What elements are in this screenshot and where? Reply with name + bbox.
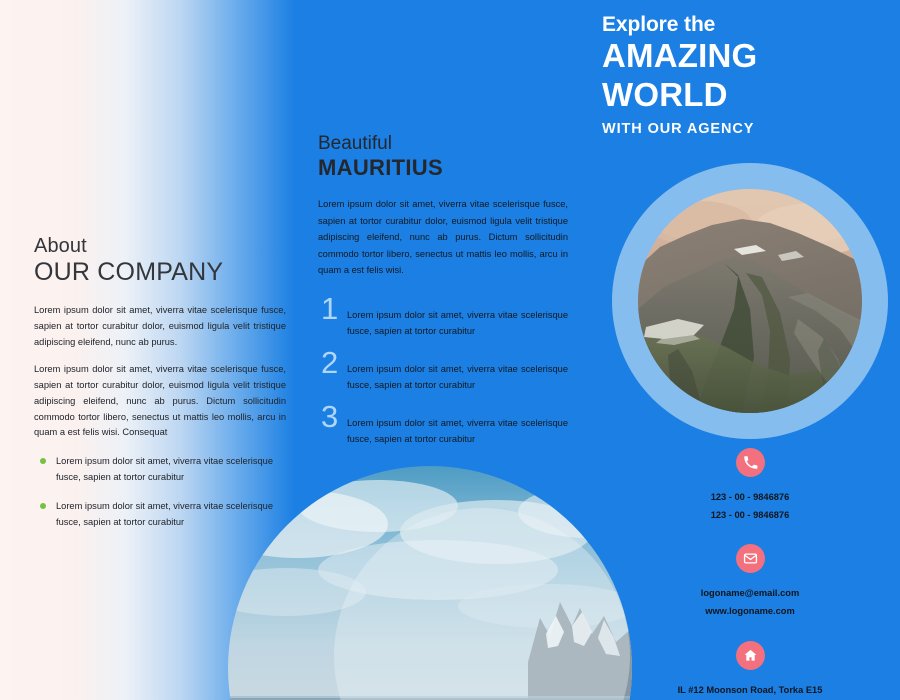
about-paragraph-2: Lorem ipsum dolor sit amet, viverra vita… <box>34 362 286 442</box>
hero-panel: Explore the AMAZING WORLD WITH OUR AGENC… <box>602 12 892 137</box>
mauritius-kicker: Beautiful <box>318 134 568 155</box>
contact-mail-group: logoname@email.com www.logoname.com <box>602 544 898 620</box>
mauritius-title: MAURITIUS <box>318 155 568 180</box>
about-kicker: About <box>34 236 286 258</box>
list-item-number: 2 <box>321 347 338 378</box>
phone-line-1[interactable]: 123 - 00 - 9846876 <box>602 488 898 506</box>
home-icon[interactable] <box>736 641 765 670</box>
mountain-peak-photo <box>638 189 862 413</box>
email-address[interactable]: logoname@email.com <box>602 584 898 602</box>
mauritius-numbered-list: 1 Lorem ipsum dolor sit amet, viverra vi… <box>318 299 568 454</box>
contact-address-group: IL #12 Moonson Road, Torka E15 The Fake … <box>602 641 898 700</box>
about-title: OUR COMPANY <box>34 258 286 286</box>
list-item-text: Lorem ipsum dolor sit amet, viverra vita… <box>347 407 568 448</box>
bullet-dot-icon <box>40 458 46 464</box>
list-item-number: 1 <box>321 293 338 324</box>
phone-line-2[interactable]: 123 - 00 - 9846876 <box>602 506 898 524</box>
mauritius-panel: Beautiful MAURITIUS Lorem ipsum dolor si… <box>318 134 568 461</box>
list-item: 1 Lorem ipsum dolor sit amet, viverra vi… <box>318 299 568 346</box>
list-item-text: Lorem ipsum dolor sit amet, viverra vita… <box>347 299 568 340</box>
phone-icon[interactable] <box>736 448 765 477</box>
bullet-dot-icon <box>40 503 46 509</box>
envelope-icon[interactable] <box>736 544 765 573</box>
list-item: 2 Lorem ipsum dolor sit amet, viverra vi… <box>318 353 568 400</box>
hero-subtitle: WITH OUR AGENCY <box>602 121 892 137</box>
brochure-page: About OUR COMPANY Lorem ipsum dolor sit … <box>0 0 900 700</box>
list-item: 3 Lorem ipsum dolor sit amet, viverra vi… <box>318 407 568 454</box>
mauritius-body: Lorem ipsum dolor sit amet, viverra vita… <box>318 196 568 279</box>
address-line-1: IL #12 Moonson Road, Torka E15 <box>602 681 898 699</box>
mountain-photo-ring <box>612 163 888 439</box>
list-item-number: 3 <box>321 401 338 432</box>
website-url[interactable]: www.logoname.com <box>602 602 898 620</box>
contact-block: 123 - 00 - 9846876 123 - 00 - 9846876 lo… <box>602 448 898 700</box>
list-item-text: Lorem ipsum dolor sit amet, viverra vita… <box>347 353 568 394</box>
about-paragraph-1: Lorem ipsum dolor sit amet, viverra vita… <box>34 303 286 351</box>
hero-kicker: Explore the <box>602 12 892 37</box>
contact-phone-group: 123 - 00 - 9846876 123 - 00 - 9846876 <box>602 448 898 524</box>
seascape-photo-group <box>228 466 632 700</box>
hero-line-2: WORLD <box>602 76 892 115</box>
hero-line-1: AMAZING <box>602 37 892 76</box>
